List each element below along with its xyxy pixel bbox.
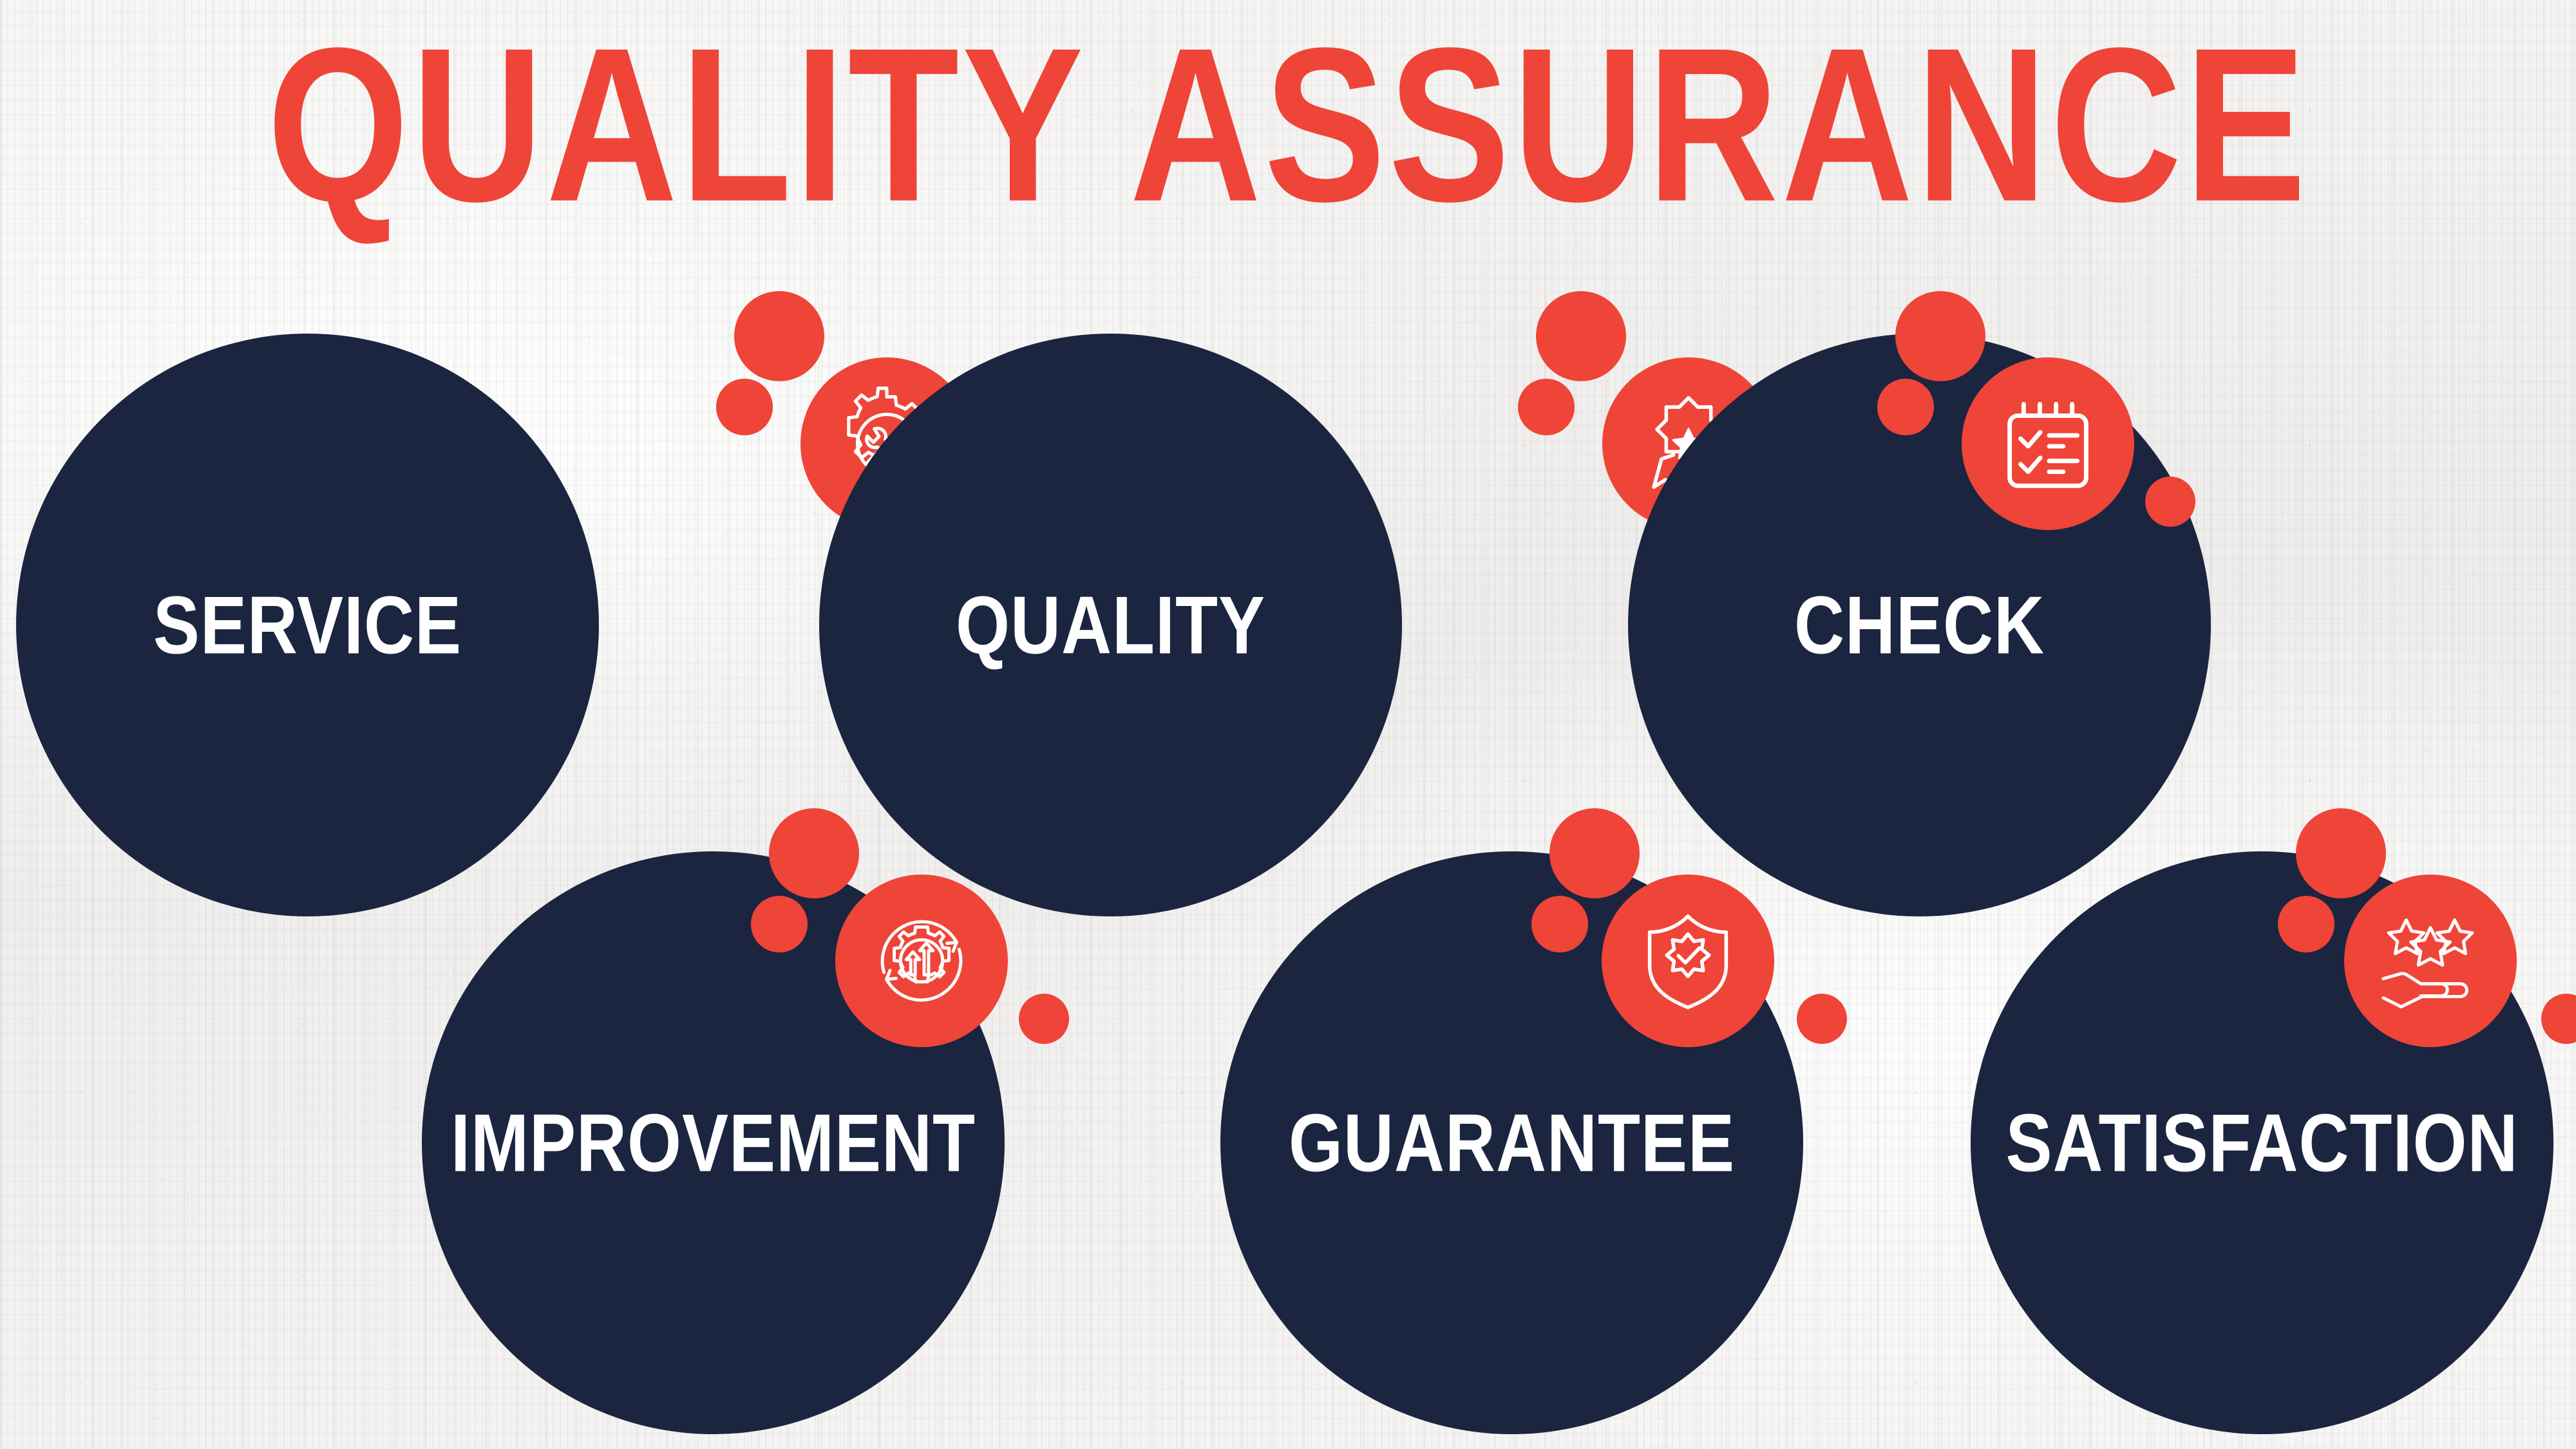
accent-dot-small-quality <box>1518 379 1575 435</box>
icon-badge-satisfaction[interactable] <box>2344 875 2517 1047</box>
pillar-label-improvement: IMPROVEMENT <box>451 1095 976 1191</box>
accent-dot-small-satisfaction <box>2278 896 2334 952</box>
accent-dot-small-check <box>1877 379 1934 435</box>
page-title: QUALITY ASSURANCE <box>0 15 2576 235</box>
accent-dot-large-quality <box>1536 291 1626 381</box>
accent-dot-tiny-satisfaction <box>2541 994 2576 1044</box>
pillar-disc-quality[interactable]: QUALITY <box>819 334 1402 916</box>
shield-check-badge-icon <box>1624 897 1752 1025</box>
accent-dot-large-service <box>734 291 824 381</box>
pillar-label-check: CHECK <box>1794 578 2045 673</box>
pillar-disc-service[interactable]: SERVICE <box>16 334 599 916</box>
accent-dot-small-improvement <box>751 896 808 952</box>
accent-dot-small-service <box>716 379 773 435</box>
accent-dot-large-guarantee <box>1549 808 1640 898</box>
accent-dot-tiny-improvement <box>1019 994 1069 1044</box>
pillar-label-guarantee: GUARANTEE <box>1289 1095 1735 1191</box>
accent-dot-small-guarantee <box>1531 896 1588 952</box>
accent-dot-large-check <box>1895 291 1985 381</box>
accent-dot-large-improvement <box>769 808 859 898</box>
accent-dot-tiny-check <box>2145 477 2195 527</box>
icon-badge-check[interactable] <box>1962 357 2134 530</box>
pillar-label-quality: QUALITY <box>956 578 1265 673</box>
icon-badge-improvement[interactable] <box>835 875 1008 1047</box>
pillar-label-satisfaction: SATISFACTION <box>2005 1095 2518 1191</box>
pillar-label-service: SERVICE <box>153 578 462 673</box>
checklist-clipboard-icon <box>1984 380 2112 507</box>
accent-dot-tiny-guarantee <box>1797 994 1847 1044</box>
icon-badge-guarantee[interactable] <box>1602 875 1774 1047</box>
gear-growth-arrows-cycle-icon <box>858 897 985 1025</box>
accent-dot-large-satisfaction <box>2296 808 2386 898</box>
hand-three-stars-icon <box>2367 897 2494 1025</box>
